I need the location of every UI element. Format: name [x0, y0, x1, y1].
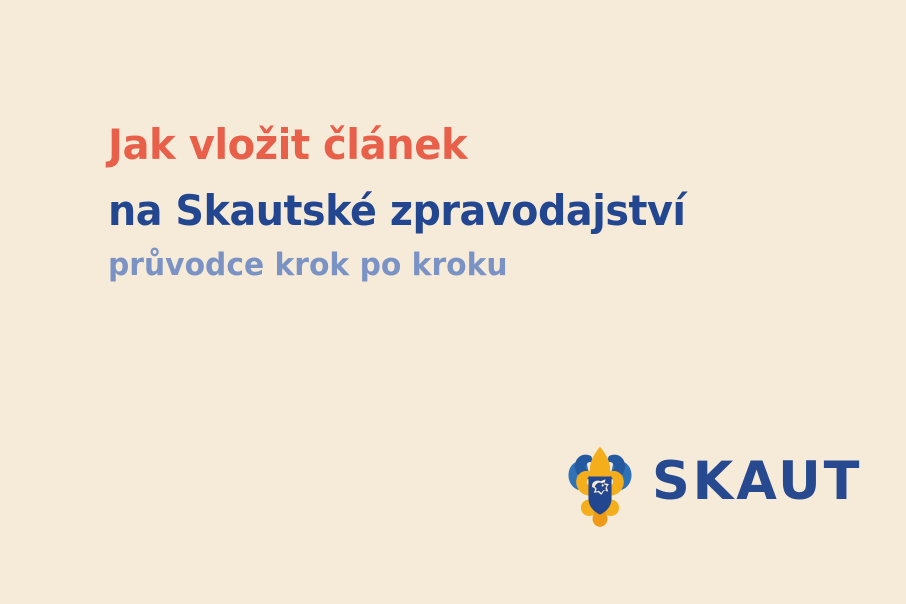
subtitle: průvodce krok po kroku: [108, 244, 780, 286]
title-slide: Jak vložit článek na Skautské zpravodajs…: [0, 0, 906, 604]
title-block: Jak vložit článek na Skautské zpravodajs…: [108, 118, 808, 286]
skaut-logo-lockup: SKAUT: [566, 441, 864, 527]
headline-primary: Jak vložit článek: [108, 118, 777, 172]
skaut-lily-emblem-icon: [566, 441, 634, 527]
skaut-wordmark: SKAUT: [652, 455, 862, 514]
headline-secondary: na Skautské zpravodajství: [108, 184, 770, 238]
